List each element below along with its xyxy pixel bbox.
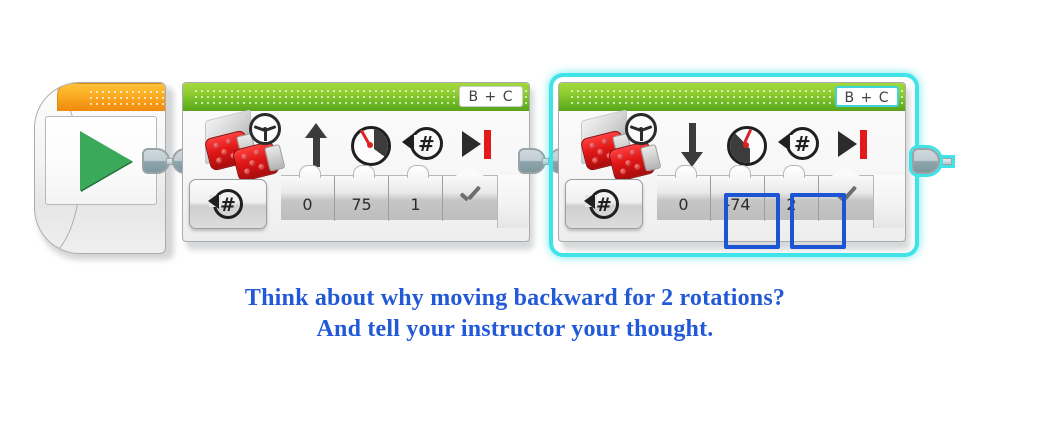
move-steering-icon-1 (199, 113, 285, 175)
checkmark-icon-1 (460, 190, 480, 203)
checkmark-icon-2 (836, 190, 856, 203)
caption-line-1: Think about why moving backward for 2 ro… (0, 283, 1030, 314)
header-dot-pattern (88, 89, 166, 105)
brake-value-field-1[interactable] (443, 176, 497, 221)
move-steering-block-1[interactable]: B + C (182, 82, 534, 248)
rotations-value-1: 1 (389, 195, 442, 214)
cell-notch (353, 165, 375, 178)
block-1-header: B + C (183, 83, 529, 111)
brake-value-field-2[interactable] (819, 176, 873, 221)
program-canvas: B + C (0, 0, 1064, 436)
steering-value-field-2[interactable]: 0 (657, 176, 711, 221)
rotations-value-2: 2 (765, 195, 818, 214)
move-steering-icon-2 (575, 113, 661, 175)
port-label-2[interactable]: B + C (835, 86, 899, 107)
parameter-row-tail-2 (873, 175, 905, 228)
rotations-value-field-2[interactable]: 2 (765, 176, 819, 221)
rotations-mode-icon: # (209, 187, 247, 223)
rotations-icon-1: # (399, 119, 451, 171)
cell-notch (675, 165, 697, 178)
port-label-1[interactable]: B + C (459, 86, 523, 107)
move-steering-block-2[interactable]: B + C (558, 82, 910, 248)
steering-arrow-icon-2 (667, 119, 719, 171)
caption-text: Think about why moving backward for 2 ro… (0, 283, 1030, 345)
play-icon[interactable] (80, 131, 132, 191)
power-speedometer-icon-2 (721, 119, 773, 171)
cell-notch-pointed (455, 163, 485, 177)
parameter-row-tail-1 (497, 175, 529, 228)
steering-wheel-icon (625, 113, 657, 145)
power-value-2: -74 (711, 195, 764, 214)
parameter-row-2: 0 -74 2 (657, 175, 905, 220)
cell-notch (729, 165, 751, 178)
power-value-1: 75 (335, 195, 388, 214)
rotations-value-field-1[interactable]: 1 (389, 176, 443, 221)
steering-value-field-1[interactable]: 0 (281, 176, 335, 221)
cell-notch (299, 165, 321, 178)
power-value-field-2[interactable]: -74 (711, 176, 765, 221)
power-speedometer-icon-1 (345, 119, 397, 171)
steering-arrow-icon-1 (291, 119, 343, 171)
parameter-row-1: 0 75 1 (281, 175, 529, 220)
cell-notch (407, 165, 429, 178)
start-block-header (57, 83, 166, 111)
caption-line-2: And tell your instructor your thought. (0, 314, 1030, 345)
rotations-icon-2: # (775, 119, 827, 171)
steering-value-2: 0 (657, 195, 710, 214)
connector-plug-move2-out[interactable] (912, 148, 940, 174)
block-2-body: B + C (558, 82, 906, 242)
power-value-field-1[interactable]: 75 (335, 176, 389, 221)
block-1-body: B + C (182, 82, 530, 242)
mode-selector-button-2[interactable]: # (565, 179, 643, 229)
mode-selector-button-1[interactable]: # (189, 179, 267, 229)
cell-notch (783, 165, 805, 178)
block-2-header: B + C (559, 83, 905, 111)
rotations-mode-icon: # (585, 187, 623, 223)
steering-value-1: 0 (281, 195, 334, 214)
steering-wheel-icon (249, 113, 281, 145)
cell-notch-pointed (831, 163, 861, 177)
